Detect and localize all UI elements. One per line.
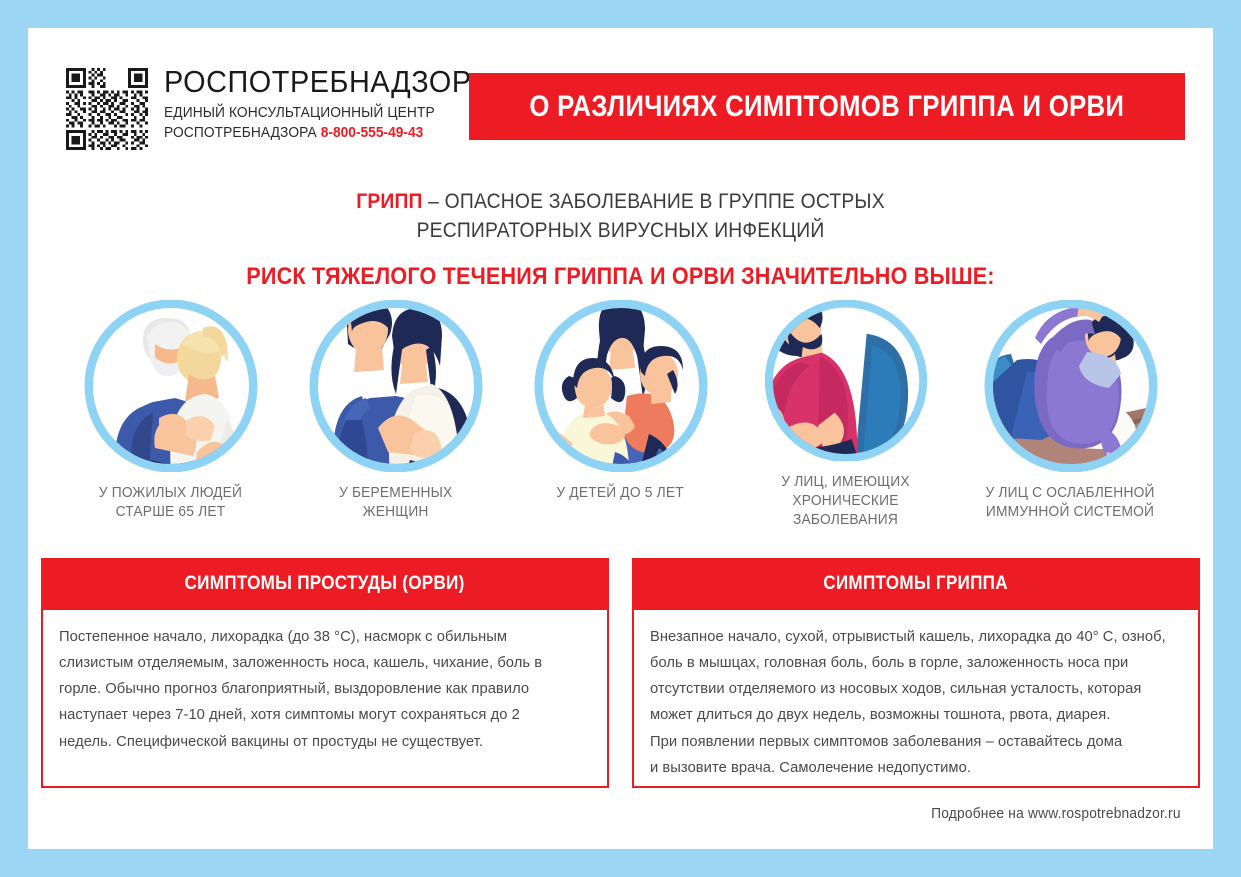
man-weak-immunity-on-sofa-illustration (981, 300, 1161, 472)
risk-group-pregnant: У БЕРЕМЕННЫХ ЖЕНЩИН (293, 300, 498, 530)
intro-block: ГРИПП – ОПАСНОЕ ЗАБОЛЕВАНИЕ В ГРУППЕ ОСТ… (28, 188, 1213, 291)
panel-cold-header: СИМПТОМЫ ПРОСТУДЫ (ОРВИ) (41, 558, 609, 610)
risk-groups-row: У ПОЖИЛЫХ ЛЮДЕЙ СТАРШЕ 65 ЛЕТ (68, 300, 1173, 530)
panel-cold-line: Постепенное начало, лихорадка (до 38 °С)… (59, 624, 575, 650)
panel-cold-body: Постепенное начало, лихорадка (до 38 °С)… (41, 610, 609, 788)
risk-group-caption: У БЕРЕМЕННЫХ ЖЕНЩИН (339, 484, 452, 522)
panel-flu-line: отсутствии отделяемого из носовых ходов,… (650, 676, 1166, 702)
risk-group-caption: У ПОЖИЛЫХ ЛЮДЕЙ СТАРШЕ 65 ЛЕТ (99, 484, 242, 522)
consult-center-label: РОСПОТРЕБНАДЗОРА (164, 125, 317, 141)
panel-flu-header: СИМПТОМЫ ГРИППА (632, 558, 1200, 610)
pregnant-couple-illustration (306, 300, 486, 472)
man-with-chronic-illness-illustration (756, 300, 936, 461)
panel-flu-title: СИМПТОМЫ ГРИППА (824, 573, 1009, 595)
brand-text-block: РОСПОТРЕБНАДЗОР ЕДИНЫЙ КОНСУЛЬТАЦИОННЫЙ … (164, 66, 495, 142)
panel-cold-line: недель. Специфической вакцины от простуд… (59, 729, 575, 755)
risk-group-chronic: У ЛИЦ, ИМЕЮЩИХ ХРОНИЧЕСКИЕ ЗАБОЛЕВАНИЯ (743, 300, 948, 530)
intro-accent-word: ГРИПП (356, 190, 422, 213)
panel-cold-title: СИМПТОМЫ ПРОСТУДЫ (ОРВИ) (185, 573, 465, 595)
risk-group-caption: У ЛИЦ, ИМЕЮЩИХ ХРОНИЧЕСКИЕ ЗАБОЛЕВАНИЯ (748, 473, 943, 530)
panel-cold-line: слизистым отделяемым, заложенность носа,… (59, 650, 575, 676)
brand-name: РОСПОТРЕБНАДЗОР (164, 66, 472, 97)
brand-logo-block: РОСПОТРЕБНАДЗОР ЕДИНЫЙ КОНСУЛЬТАЦИОННЫЙ … (66, 66, 495, 150)
risk-group-caption: У ДЕТЕЙ ДО 5 ЛЕТ (557, 484, 684, 503)
hotline-phone[interactable]: 8-800-555-49-43 (321, 125, 424, 141)
risk-group-immunity: У ЛИЦ С ОСЛАБЛЕННОЙ ИММУННОЙ СИСТЕМОЙ (968, 300, 1173, 530)
panel-flu-line: Внезапное начало, сухой, отрывистый каше… (650, 624, 1166, 650)
symptom-panels: СИМПТОМЫ ПРОСТУДЫ (ОРВИ) Постепенное нач… (41, 558, 1200, 790)
poster-header: РОСПОТРЕБНАДЗОР ЕДИНЫЙ КОНСУЛЬТАЦИОННЫЙ … (28, 28, 1213, 148)
consult-center-line2: РОСПОТРЕБНАДЗОРА 8-800-555-49-43 (164, 124, 478, 143)
footer-note: Подробнее на www.rospotrebnadzor.ru (931, 806, 1181, 822)
risk-group-elderly: У ПОЖИЛЫХ ЛЮДЕЙ СТАРШЕ 65 ЛЕТ (68, 300, 273, 530)
panel-flu-symptoms: СИМПТОМЫ ГРИППА Внезапное начало, сухой,… (632, 558, 1200, 790)
panel-flu-body: Внезапное начало, сухой, отрывистый каше… (632, 610, 1200, 788)
title-banner: О РАЗЛИЧИЯХ СИМПТОМОВ ГРИППА И ОРВИ (469, 73, 1185, 140)
panel-flu-line: и вызовите врача. Самолечение недопустим… (650, 755, 1166, 781)
panel-cold-line: горле. Обычно прогноз благоприятный, выз… (59, 676, 575, 702)
intro-line-1-rest: – ОПАСНОЕ ЗАБОЛЕВАНИЕ В ГРУППЕ ОСТРЫХ (423, 190, 885, 213)
risk-headline: РИСК ТЯЖЕЛОГО ТЕЧЕНИЯ ГРИППА И ОРВИ ЗНАЧ… (87, 263, 1154, 291)
qr-code-icon (66, 68, 148, 150)
panel-flu-line: может длиться до двух недель, возможны т… (650, 702, 1166, 728)
elderly-couple-illustration (81, 300, 261, 472)
panel-cold-line: наступает через 7-10 дней, хотя симптомы… (59, 702, 575, 728)
panel-flu-line: При появлении первых симптомов заболеван… (650, 729, 1166, 755)
mother-with-children-illustration (531, 300, 711, 472)
panel-cold-symptoms: СИМПТОМЫ ПРОСТУДЫ (ОРВИ) Постепенное нач… (41, 558, 609, 790)
poster-card: РОСПОТРЕБНАДЗОР ЕДИНЫЙ КОНСУЛЬТАЦИОННЫЙ … (28, 28, 1213, 849)
risk-group-children: У ДЕТЕЙ ДО 5 ЛЕТ (518, 300, 723, 530)
risk-group-caption: У ЛИЦ С ОСЛАБЛЕННОЙ ИММУННОЙ СИСТЕМОЙ (986, 484, 1155, 522)
intro-line-1: ГРИПП – ОПАСНОЕ ЗАБОЛЕВАНИЕ В ГРУППЕ ОСТ… (75, 188, 1165, 217)
poster-title: О РАЗЛИЧИЯХ СИМПТОМОВ ГРИППА И ОРВИ (530, 90, 1125, 124)
intro-line-2: РЕСПИРАТОРНЫХ ВИРУСНЫХ ИНФЕКЦИЙ (75, 217, 1165, 246)
consult-center-line1: ЕДИНЫЙ КОНСУЛЬТАЦИОННЫЙ ЦЕНТР (164, 104, 478, 123)
panel-flu-line: боль в мышцах, головная боль, боль в гор… (650, 650, 1166, 676)
